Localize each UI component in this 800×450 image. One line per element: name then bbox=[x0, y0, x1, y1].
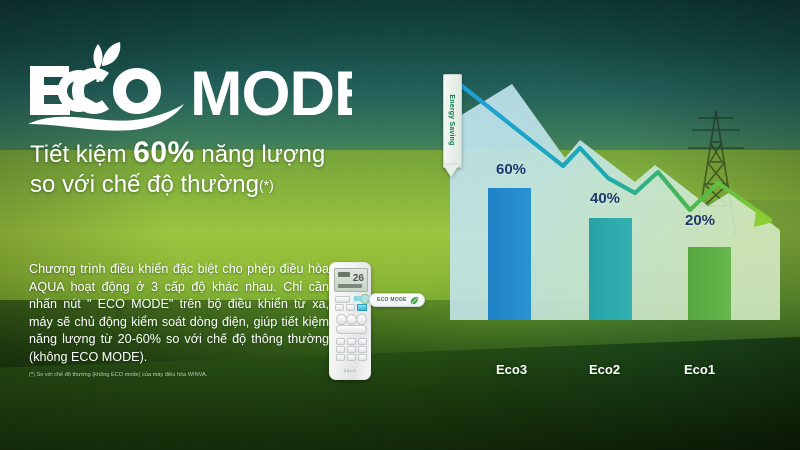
remote-button-eco-mode[interactable] bbox=[357, 304, 367, 311]
callout-label: ECO MODE bbox=[377, 297, 407, 303]
remote-button-fan[interactable] bbox=[335, 304, 344, 311]
remote-button-row-2[interactable] bbox=[335, 304, 367, 311]
chart-bar-eco3 bbox=[488, 188, 531, 320]
remote-button-down[interactable] bbox=[356, 314, 367, 325]
chart-bar-eco2 bbox=[589, 218, 632, 320]
lcd-temperature: 26 bbox=[353, 274, 364, 284]
headline: Tiết kiệm 60% năng lượng so với chế độ t… bbox=[30, 138, 430, 200]
energy-saving-ribbon: Energy Saving bbox=[443, 74, 460, 178]
headline-asterisk: (*) bbox=[259, 177, 274, 193]
remote-key-3[interactable] bbox=[358, 338, 367, 345]
chart-value-label-eco3: 60% bbox=[496, 161, 526, 178]
infographic-canvas: MODE Tiết kiệm 60% năng lượng so với chế… bbox=[0, 0, 800, 450]
remote-keypad-row-3[interactable] bbox=[336, 354, 367, 361]
eco-mode-callout-badge[interactable]: ECO MODE bbox=[369, 293, 425, 307]
remote-key-2[interactable] bbox=[347, 338, 356, 345]
remote-dpad[interactable] bbox=[336, 314, 364, 334]
remote-button-power[interactable] bbox=[335, 296, 350, 303]
remote-key-6[interactable] bbox=[358, 346, 367, 353]
eco-mode-logo: MODE bbox=[22, 32, 352, 137]
svg-text:MODE: MODE bbox=[190, 59, 352, 129]
chart-bar-eco1 bbox=[688, 247, 731, 320]
remote-key-9[interactable] bbox=[358, 354, 367, 361]
remote-lcd-display: 26 bbox=[334, 268, 368, 292]
remote-button-temp-bar[interactable] bbox=[336, 325, 367, 334]
chart-category-label-eco1: Eco1 bbox=[684, 362, 715, 377]
ac-remote-control[interactable]: 26 bbox=[329, 262, 371, 380]
left-content-column: MODE Tiết kiệm 60% năng lượng so với chế… bbox=[0, 0, 440, 450]
chart-value-label-eco1: 20% bbox=[685, 212, 715, 229]
remote-key-5[interactable] bbox=[347, 346, 356, 353]
leaf-icon bbox=[410, 296, 419, 305]
ribbon-label: Energy Saving bbox=[443, 74, 460, 166]
chart-value-label-eco2: 40% bbox=[590, 190, 620, 207]
headline-line2: so với chế độ thường bbox=[30, 171, 259, 198]
ribbon-tip bbox=[443, 165, 459, 177]
headline-prefix: Tiết kiệm bbox=[30, 141, 126, 168]
chart-category-label-eco2: Eco2 bbox=[589, 362, 620, 377]
footnote: (*) So với chế độ thường (không ECO mode… bbox=[29, 371, 329, 380]
remote-keypad-row-2[interactable] bbox=[336, 346, 367, 353]
body-paragraph: Chương trình điều khiển đặc biệt cho phé… bbox=[29, 261, 329, 367]
headline-suffix: năng lượng bbox=[201, 141, 325, 168]
remote-button-swing[interactable] bbox=[346, 304, 355, 311]
remote-key-7[interactable] bbox=[336, 354, 345, 361]
headline-highlight: 60% bbox=[133, 136, 195, 169]
lcd-mode-icon bbox=[338, 272, 350, 277]
remote-key-4[interactable] bbox=[336, 346, 345, 353]
remote-key-8[interactable] bbox=[347, 354, 356, 361]
chart-category-label-eco3: Eco3 bbox=[496, 362, 527, 377]
remote-key-1[interactable] bbox=[336, 338, 345, 345]
lcd-status-bar bbox=[338, 284, 362, 288]
energy-saving-chart bbox=[440, 70, 790, 390]
remote-brand-label: aqua bbox=[329, 368, 371, 373]
remote-keypad-row-1[interactable] bbox=[336, 338, 367, 345]
